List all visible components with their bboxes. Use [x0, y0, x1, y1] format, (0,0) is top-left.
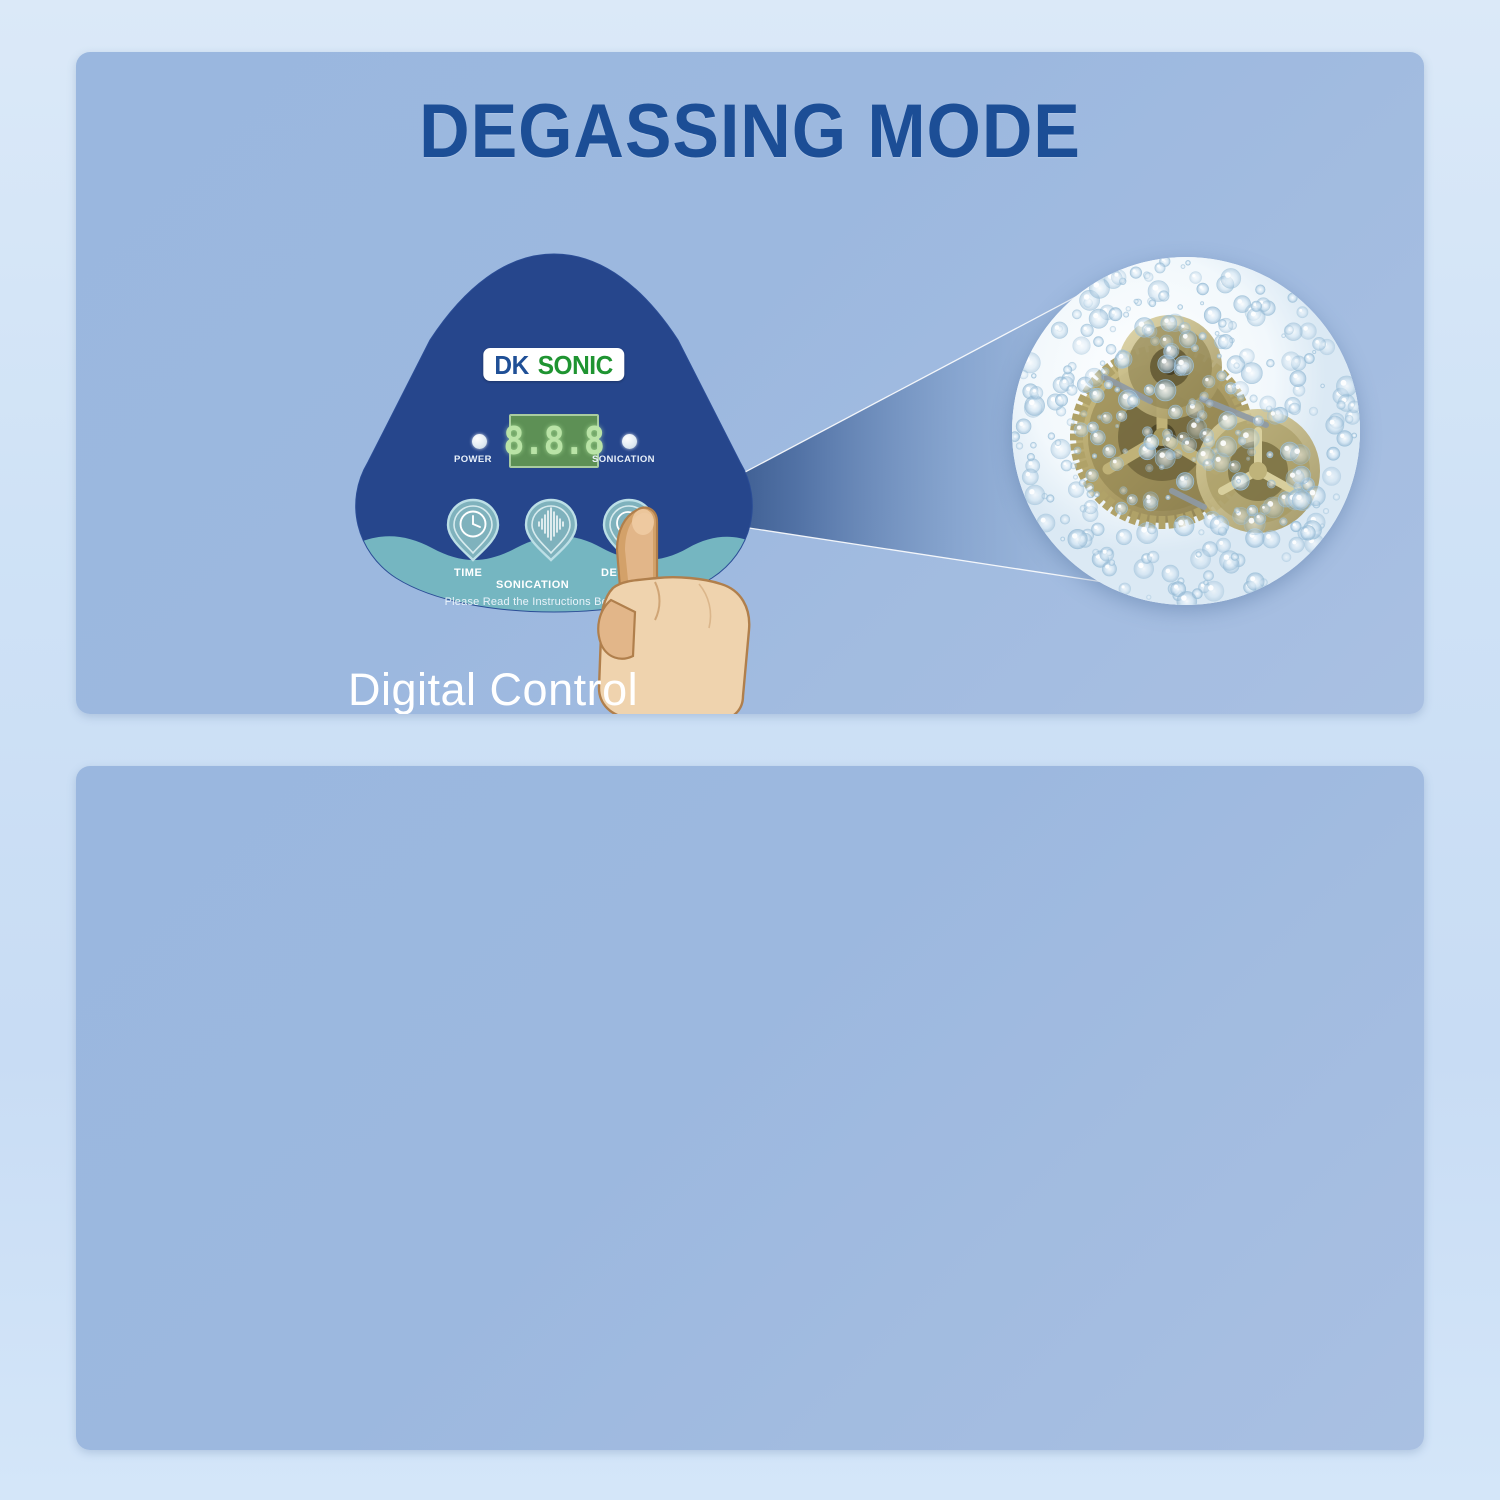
time-button[interactable]	[445, 498, 501, 562]
brand-logo: DKSONIC	[483, 348, 624, 381]
led-display-value: 8.8.8	[504, 419, 605, 463]
time-button-label: TIME	[454, 567, 482, 579]
degas-button[interactable]	[601, 498, 657, 562]
brand-logo-sonic: SONIC	[537, 352, 612, 378]
degas-button-label: DEGAS	[601, 567, 643, 579]
sonication-button[interactable]	[523, 498, 579, 562]
sonication-indicator-lamp	[622, 434, 637, 449]
gears-in-bubbles-illustration	[1012, 257, 1360, 605]
power-indicator-label: POWER	[454, 454, 492, 465]
power-indicator-lamp	[472, 434, 487, 449]
magnified-view-circle	[1012, 257, 1360, 605]
top-panel: DEGASSING MODE	[76, 52, 1424, 714]
sonication-indicator-label: SONICATION	[592, 454, 655, 465]
device-control-panel: DKSONIC 8.8.8 POWER SONICATION	[344, 248, 764, 618]
sonication-button-label: SONICATION	[496, 579, 569, 591]
device-footer-note: Please Read the Instructions Before Usin…	[344, 596, 764, 608]
bottom-panel: The degassing function is used to remove…	[76, 766, 1424, 1450]
led-display: 8.8.8	[509, 414, 599, 468]
brand-logo-dk: DK	[494, 352, 528, 378]
infographic-stage: DEGASSING MODE	[0, 0, 1500, 1500]
digital-control-caption: Digital Control	[348, 664, 638, 714]
page-title: DEGASSING MODE	[130, 88, 1370, 175]
